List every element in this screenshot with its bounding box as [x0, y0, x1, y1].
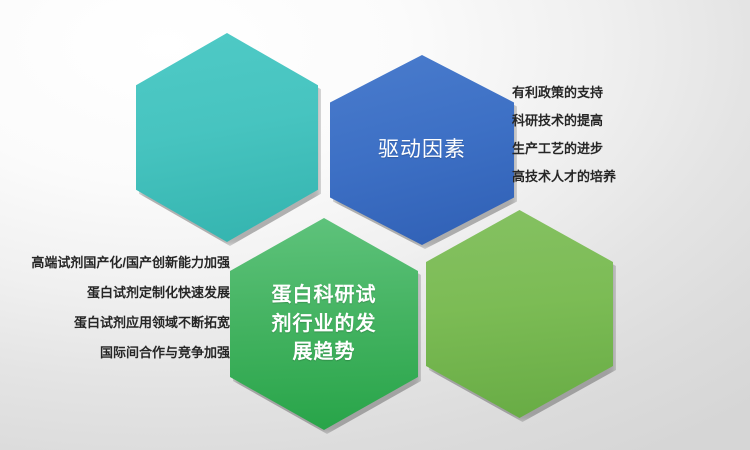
- list-item: 有利政策的支持: [512, 86, 603, 99]
- list-item: 生产工艺的进步: [512, 142, 603, 155]
- list-item: 蛋白试剂应用领域不断拓宽: [74, 316, 230, 329]
- list-item: 高技术人才的培养: [512, 170, 616, 183]
- development-trends-list: 高端试剂国产化/国产创新能力加强 蛋白试剂定制化快速发展 蛋白试剂应用领域不断拓…: [2, 256, 230, 376]
- hexagon-green-label: 蛋白科研试剂行业的发展趋势: [264, 281, 384, 366]
- diagram-canvas: 驱动因素 蛋白科研试剂行业的发展趋势 有利政策的支持 科研技术的提高 生产工艺的…: [0, 0, 750, 450]
- list-item: 高端试剂国产化/国产创新能力加强: [31, 256, 230, 269]
- list-item: 蛋白试剂定制化快速发展: [87, 286, 230, 299]
- list-item: 科研技术的提高: [512, 114, 603, 127]
- hexagon-blue-label: 驱动因素: [378, 136, 466, 163]
- driver-factors-list: 有利政策的支持 科研技术的提高 生产工艺的进步 高技术人才的培养: [512, 86, 740, 198]
- list-item: 国际间合作与竞争加强: [100, 346, 230, 359]
